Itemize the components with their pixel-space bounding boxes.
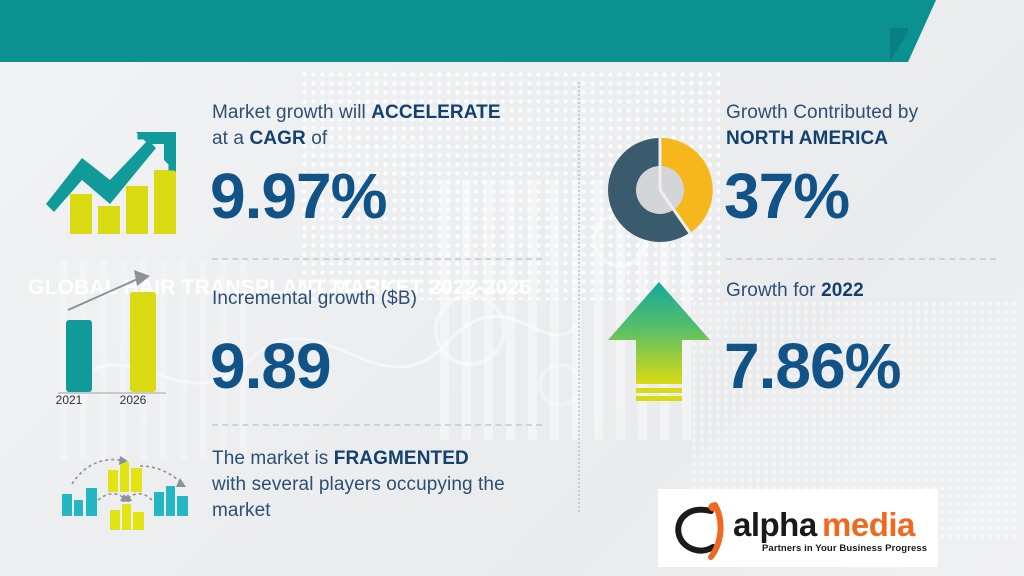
logo-text-alpha: alpha <box>733 506 817 544</box>
cagr-line2-post: of <box>306 128 327 149</box>
connected-city-buildings-icon <box>40 448 200 548</box>
column-divider <box>578 82 580 512</box>
logo-tagline: Partners in Your Business Progress <box>762 543 927 554</box>
region-description: Growth Contributed by NORTH AMERICA <box>726 100 1006 152</box>
upward-gradient-arrow-icon <box>604 278 714 413</box>
logo-text-media: media <box>822 506 915 544</box>
cagr-value: 9.97% <box>210 162 386 230</box>
cagr-description: Market growth will ACCELERATE at a CAGR … <box>212 100 542 152</box>
alpha-media-swirl-logo-icon <box>671 499 741 561</box>
incremental-growth-value: 9.89 <box>210 332 331 400</box>
cagr-line1-pre: Market growth will <box>212 102 371 123</box>
cagr-line2-pre: at a <box>212 128 249 149</box>
left-divider-2 <box>212 424 542 426</box>
region-line2-bold: NORTH AMERICA <box>726 128 888 149</box>
cagr-line1-bold: ACCELERATE <box>371 102 500 123</box>
fragmentation-line3: market <box>212 498 552 524</box>
fragmentation-line2: with several players occupying the <box>212 472 552 498</box>
region-value: 37% <box>724 162 849 230</box>
yearly-line1-bold: 2022 <box>821 280 864 301</box>
left-divider-1 <box>212 258 542 260</box>
donut-chart-icon <box>602 132 718 253</box>
fragmentation-description: The market is FRAGMENTED with several pl… <box>212 446 552 524</box>
alpha-media-logo: alpha media Partners in Your Business Pr… <box>658 489 938 567</box>
fragmentation-line1-pre: The market is <box>212 448 334 469</box>
infographic-root: GLOBAL HAIR TRANSPLANT MARKET 2022-2026 … <box>0 0 1024 576</box>
bar-label-2026: 2026 <box>108 393 158 407</box>
fragmentation-line1-bold: FRAGMENTED <box>334 448 469 469</box>
bar-label-2021: 2021 <box>44 393 94 407</box>
yearly-line1-pre: Growth for <box>726 280 821 301</box>
header-fold-corner <box>908 0 936 62</box>
cagr-line2-bold: CAGR <box>249 128 305 149</box>
right-divider-1 <box>726 258 996 260</box>
yearly-growth-value: 7.86% <box>724 332 900 400</box>
growth-arrow-bar-chart-icon <box>36 118 196 243</box>
region-line1: Growth Contributed by <box>726 100 1006 126</box>
incremental-growth-label: Incremental growth ($B) <box>212 286 542 312</box>
header-bar <box>0 0 908 62</box>
yearly-growth-description: Growth for 2022 <box>726 278 1006 304</box>
header-fold-shadow <box>890 28 910 62</box>
